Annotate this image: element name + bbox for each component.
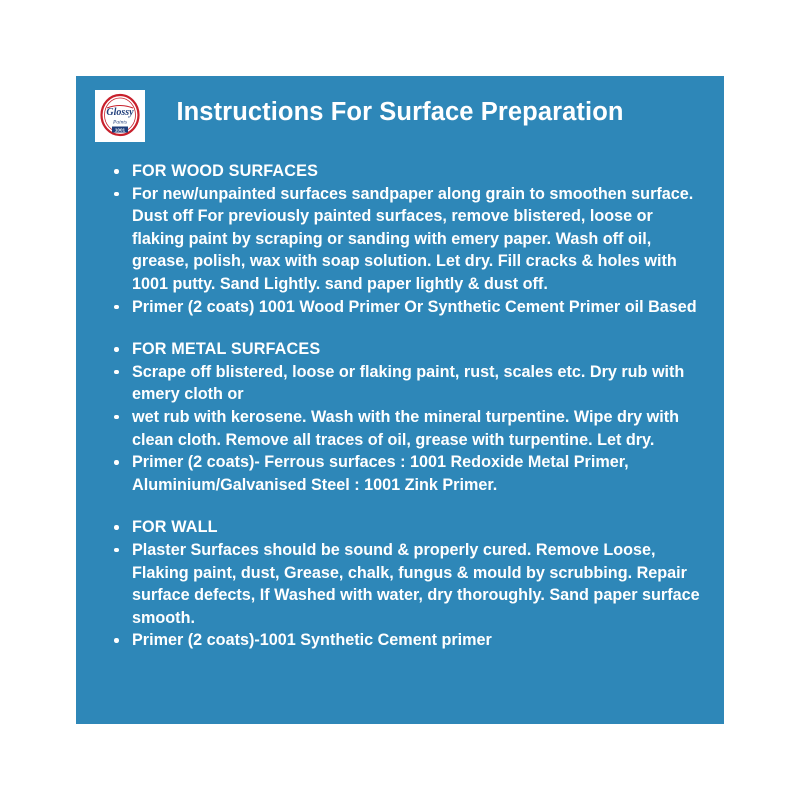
instructions-content: FOR WOOD SURFACES For new/unpainted surf… — [110, 160, 706, 652]
section-metal: FOR METAL SURFACES Scrape off blistered,… — [110, 338, 706, 496]
list-item: Plaster Surfaces should be sound & prope… — [110, 539, 706, 629]
list-item: Primer (2 coats) 1001 Wood Primer Or Syn… — [110, 296, 706, 319]
list-item: FOR WALL — [110, 516, 706, 539]
bullet-list-metal: FOR METAL SURFACES Scrape off blistered,… — [110, 338, 706, 496]
instructions-panel: Glossy Paints 1001 Instructions For Surf… — [76, 76, 724, 724]
list-item: wet rub with kerosene. Wash with the min… — [110, 406, 706, 451]
panel-header: Glossy Paints 1001 Instructions For Surf… — [76, 76, 724, 154]
bullet-list-wood: FOR WOOD SURFACES For new/unpainted surf… — [110, 160, 706, 318]
section-wood: FOR WOOD SURFACES For new/unpainted surf… — [110, 160, 706, 318]
list-item: FOR WOOD SURFACES — [110, 160, 706, 183]
page-title: Instructions For Surface Preparation — [76, 98, 724, 127]
list-item: Scrape off blistered, loose or flaking p… — [110, 361, 706, 406]
section-wall: FOR WALL Plaster Surfaces should be soun… — [110, 516, 706, 652]
bullet-list-wall: FOR WALL Plaster Surfaces should be soun… — [110, 516, 706, 652]
svg-text:1001: 1001 — [115, 127, 126, 132]
list-item: Primer (2 coats)-1001 Synthetic Cement p… — [110, 629, 706, 652]
page-root: Glossy Paints 1001 Instructions For Surf… — [0, 0, 800, 800]
list-item: FOR METAL SURFACES — [110, 338, 706, 361]
list-item: Primer (2 coats)- Ferrous surfaces : 100… — [110, 451, 706, 496]
list-item: For new/unpainted surfaces sandpaper alo… — [110, 183, 706, 296]
